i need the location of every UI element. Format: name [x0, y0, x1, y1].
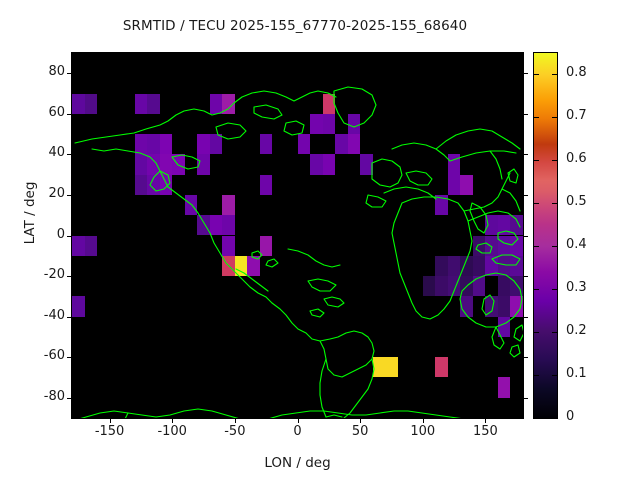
y-axis-tick	[523, 195, 528, 196]
x-axis-tick-label: -150	[80, 424, 140, 439]
colorbar-tick	[552, 160, 557, 161]
x-axis-tick	[298, 418, 299, 423]
colorbar-tick	[552, 332, 557, 333]
colorbar-tick-label: 0.2	[566, 323, 587, 338]
x-axis-tick	[235, 53, 236, 58]
y-axis-tick-label: -60	[25, 348, 65, 363]
colorbar-tick-label: 0.6	[566, 151, 587, 166]
page-title: SRMTID / TECU 2025-155_67770-2025-155_68…	[0, 18, 590, 34]
y-axis-tick	[67, 236, 72, 237]
y-axis-tick	[523, 398, 528, 399]
x-axis-tick-label: -50	[205, 424, 265, 439]
x-axis-tick	[360, 418, 361, 423]
colorbar	[534, 53, 557, 418]
y-axis-tick	[523, 357, 528, 358]
x-axis-title: LON / deg	[0, 455, 595, 471]
colorbar-tick-label: 0.7	[566, 108, 587, 123]
y-axis-tick-label: 80	[25, 64, 65, 79]
colorbar-tick	[552, 74, 557, 75]
x-axis-tick	[485, 418, 486, 423]
colorbar-tick-label: 0.1	[566, 366, 587, 381]
x-axis-tick	[235, 418, 236, 423]
y-axis-tick	[67, 114, 72, 115]
y-axis-tick	[523, 236, 528, 237]
x-axis-tick-label: -100	[142, 424, 202, 439]
colorbar-tick	[534, 418, 539, 419]
colorbar-tick	[552, 117, 557, 118]
x-axis-tick-label: 50	[330, 424, 390, 439]
colorbar-tick	[552, 203, 557, 204]
colorbar-tick	[534, 246, 539, 247]
y-axis-tick-label: -80	[25, 389, 65, 404]
colorbar-tick-label: 0.8	[566, 65, 587, 80]
colorbar-tick	[534, 117, 539, 118]
x-axis-tick	[423, 418, 424, 423]
x-axis-tick	[423, 53, 424, 58]
y-axis-tick-label: 60	[25, 105, 65, 120]
colorbar-tick-label: 0.4	[566, 237, 587, 252]
colorbar-tick	[552, 246, 557, 247]
x-axis-tick	[172, 418, 173, 423]
y-axis-tick	[67, 398, 72, 399]
y-axis-tick-label: -40	[25, 308, 65, 323]
colorbar-tick	[552, 418, 557, 419]
chart-root: SRMTID / TECU 2025-155_67770-2025-155_68…	[0, 0, 640, 480]
x-axis-tick-label: 150	[455, 424, 515, 439]
x-axis-tick-label: 0	[268, 424, 328, 439]
y-axis-tick	[67, 195, 72, 196]
y-axis-tick	[67, 154, 72, 155]
colorbar-tick	[552, 289, 557, 290]
heatmap-plot-area	[72, 53, 523, 418]
y-axis-tick	[523, 317, 528, 318]
coastline-overlay	[72, 53, 523, 418]
x-axis-tick	[110, 53, 111, 58]
colorbar-tick-label: 0	[566, 409, 574, 424]
y-axis-tick	[67, 357, 72, 358]
y-axis-tick	[67, 73, 72, 74]
colorbar-border	[533, 52, 558, 419]
y-axis-tick	[67, 276, 72, 277]
x-axis-tick	[485, 53, 486, 58]
colorbar-tick	[552, 375, 557, 376]
colorbar-tick	[534, 375, 539, 376]
y-axis-tick	[523, 154, 528, 155]
y-axis-title: LAT / deg	[22, 153, 38, 273]
colorbar-tick-label: 0.5	[566, 194, 587, 209]
y-axis-tick	[523, 276, 528, 277]
y-axis-tick	[67, 317, 72, 318]
x-axis-tick-label: 100	[393, 424, 453, 439]
x-axis-tick	[298, 53, 299, 58]
colorbar-tick	[534, 74, 539, 75]
x-axis-tick	[110, 418, 111, 423]
y-axis-tick	[523, 73, 528, 74]
x-axis-tick	[172, 53, 173, 58]
colorbar-tick	[534, 160, 539, 161]
colorbar-tick	[534, 203, 539, 204]
colorbar-tick	[534, 289, 539, 290]
y-axis-tick	[523, 114, 528, 115]
colorbar-tick-label: 0.3	[566, 280, 587, 295]
colorbar-tick	[534, 332, 539, 333]
x-axis-tick	[360, 53, 361, 58]
